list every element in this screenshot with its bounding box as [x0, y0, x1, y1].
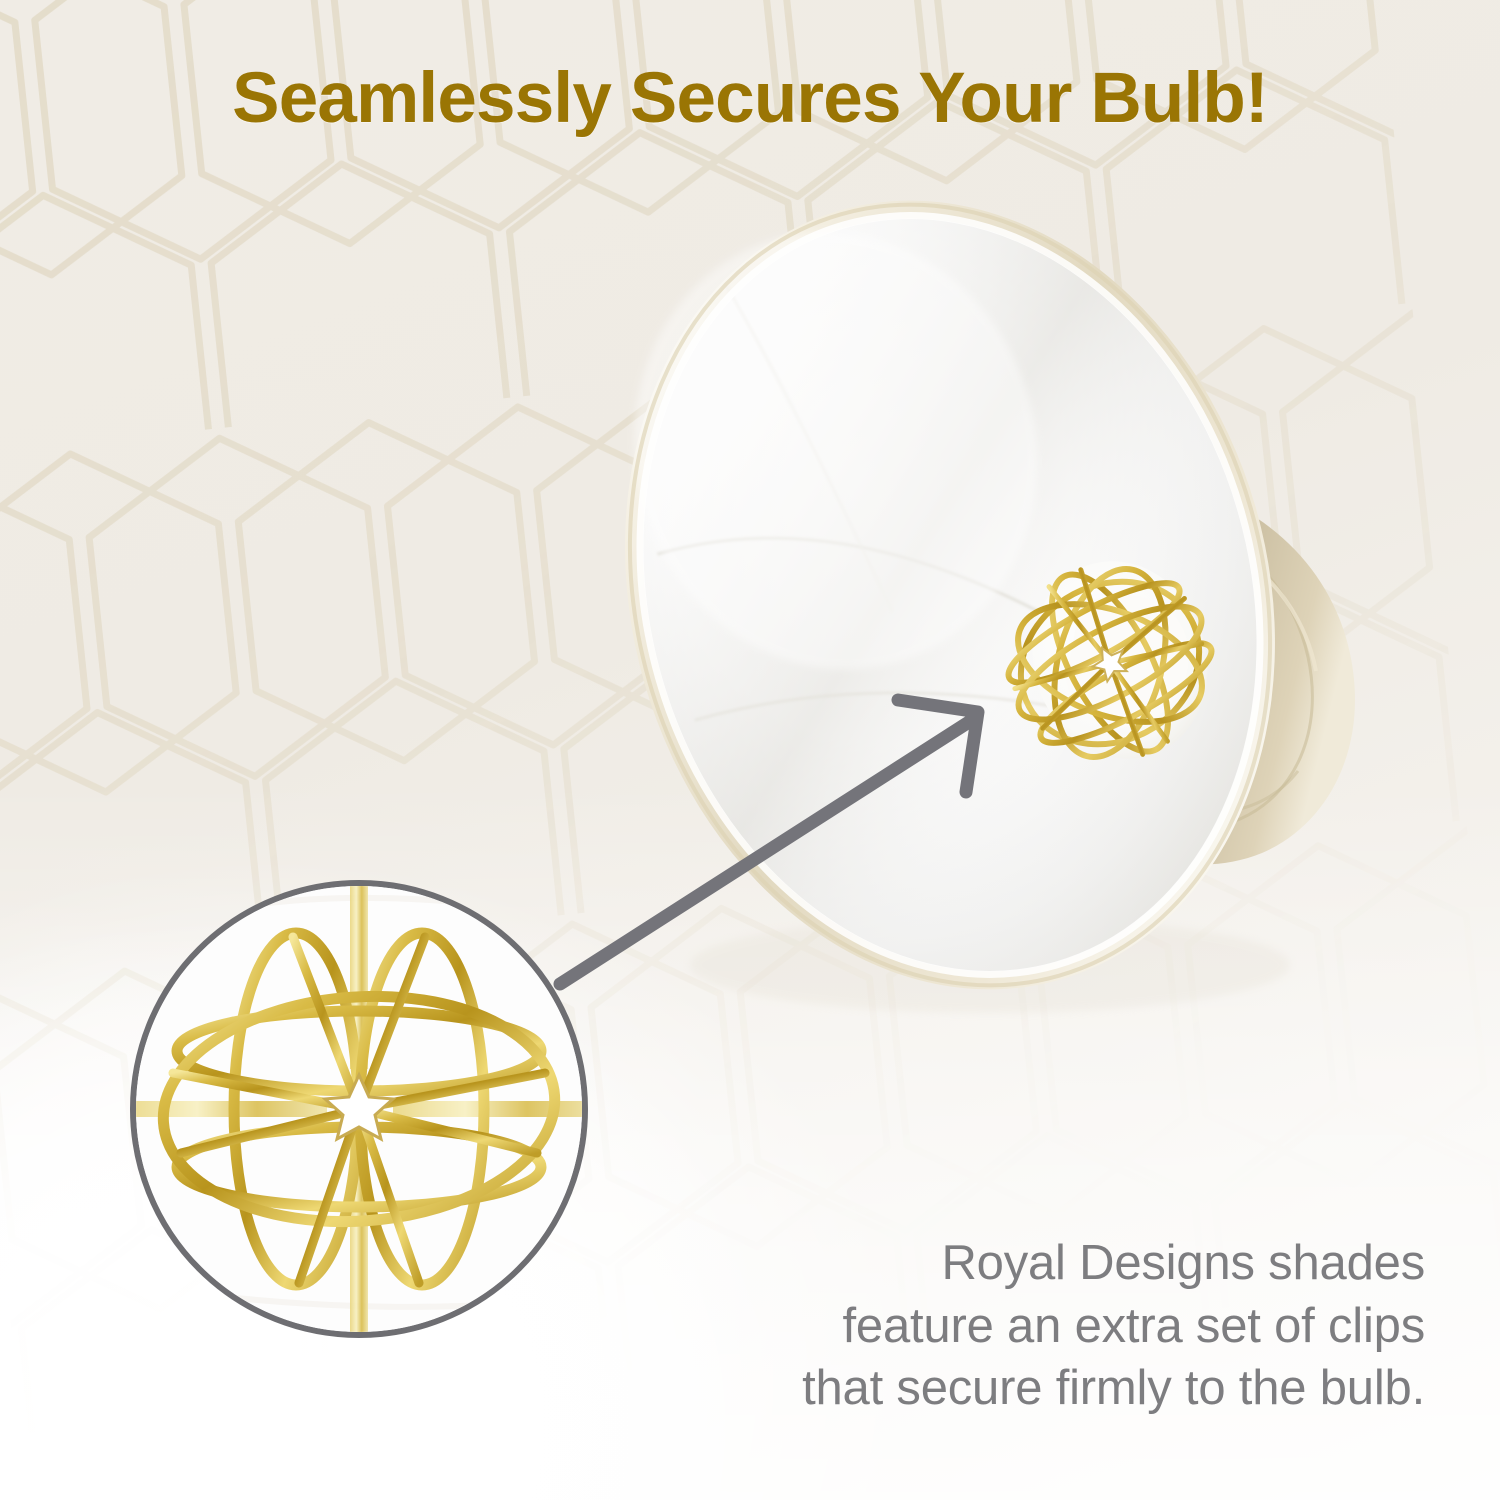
caption-text: Royal Designs shades feature an extra se… — [645, 1232, 1425, 1420]
caption-line-1: Royal Designs shades — [645, 1232, 1425, 1295]
caption-line-3: that secure firmly to the bulb. — [645, 1357, 1425, 1420]
magnifier-detail-circle — [130, 880, 588, 1338]
lamp-shade-image — [520, 175, 1400, 1075]
page-title: Seamlessly Secures Your Bulb! — [0, 62, 1500, 137]
product-feature-graphic: Seamlessly Secures Your Bulb! — [0, 0, 1500, 1500]
caption-line-2: feature an extra set of clips — [645, 1295, 1425, 1358]
